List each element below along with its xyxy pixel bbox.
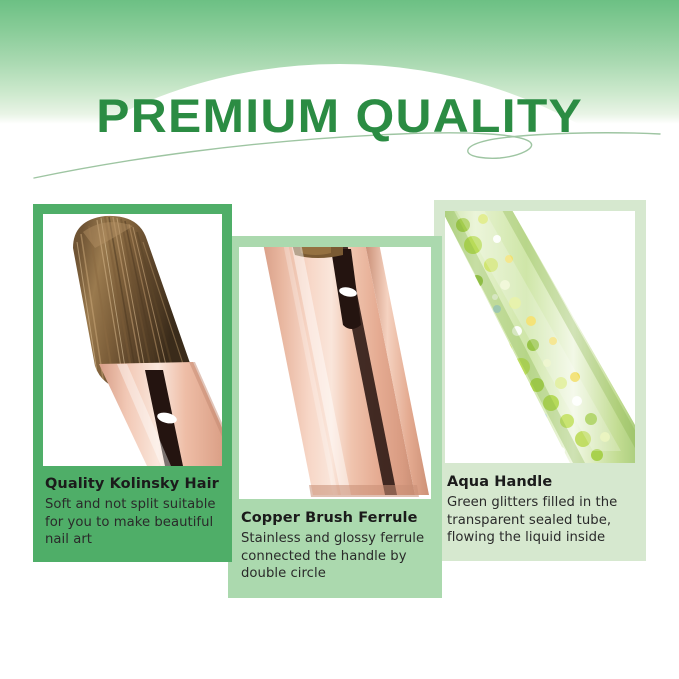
copper-ferrule-caption: Copper Brush Ferrule Stainless and gloss… bbox=[228, 499, 442, 598]
copper-ferrule-title: Copper Brush Ferrule bbox=[241, 509, 429, 527]
infographic-canvas: PREMIUM QUALITY bbox=[0, 0, 679, 679]
feature-card-aqua-handle: Aqua Handle Green glitters filled in the… bbox=[434, 200, 646, 561]
aqua-handle-photo bbox=[445, 211, 635, 463]
copper-ferrule-body: Stainless and glossy ferrule connected t… bbox=[241, 530, 429, 582]
feature-card-kolinsky-hair: Quality Kolinsky Hair Soft and not split… bbox=[33, 204, 232, 562]
kolinsky-hair-caption: Quality Kolinsky Hair Soft and not split… bbox=[33, 466, 232, 562]
feature-card-copper-ferrule: Copper Brush Ferrule Stainless and gloss… bbox=[228, 236, 442, 598]
kolinsky-hair-photo bbox=[43, 214, 222, 466]
copper-ferrule-photo bbox=[239, 247, 431, 499]
aqua-handle-body: Green glitters filled in the transparent… bbox=[447, 494, 633, 546]
kolinsky-hair-title: Quality Kolinsky Hair bbox=[45, 475, 220, 493]
kolinsky-hair-body: Soft and not split suitable for you to m… bbox=[45, 496, 220, 548]
page-title: PREMIUM QUALITY bbox=[0, 92, 679, 154]
aqua-handle-caption: Aqua Handle Green glitters filled in the… bbox=[434, 463, 646, 561]
aqua-handle-title: Aqua Handle bbox=[447, 473, 633, 491]
copper-ferrule-icon bbox=[239, 247, 431, 499]
kolinsky-brush-head-icon bbox=[43, 214, 222, 466]
page-title-text: PREMIUM QUALITY bbox=[96, 92, 583, 139]
green-glitter-handle-icon bbox=[445, 211, 635, 463]
